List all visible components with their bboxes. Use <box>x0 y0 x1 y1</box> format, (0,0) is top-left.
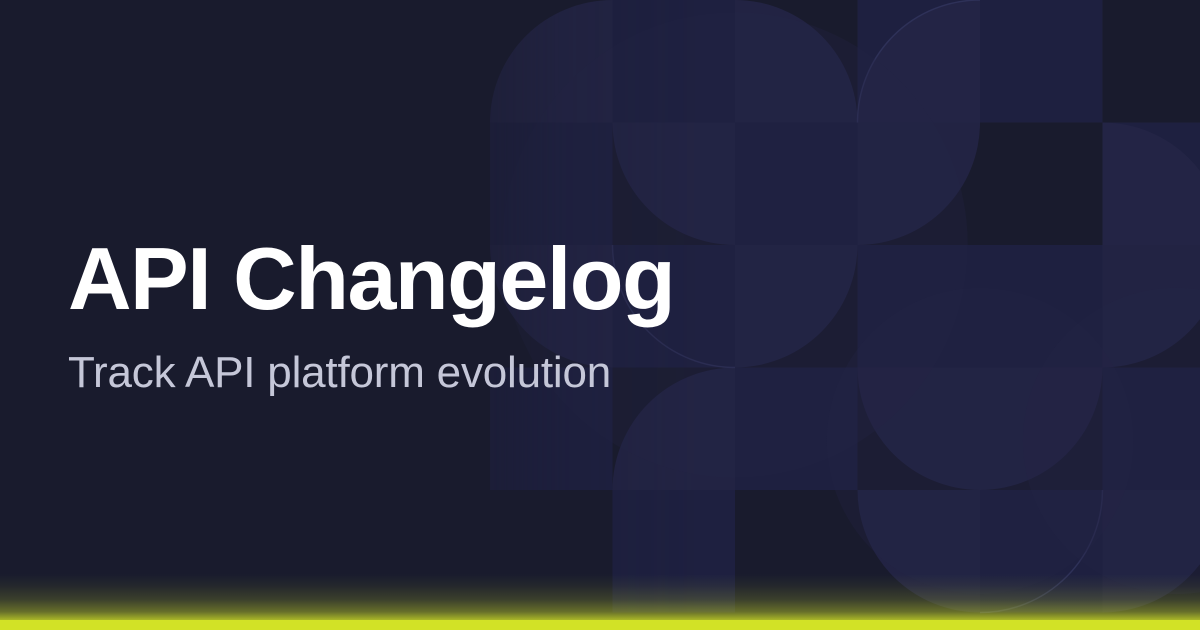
pattern-arc <box>858 0 981 123</box>
pattern-quarter-circle <box>980 368 1103 491</box>
pattern-quarter-circle <box>858 0 981 123</box>
pattern-soft-circle <box>827 288 1133 594</box>
pattern-square <box>858 0 981 123</box>
pattern-square <box>735 123 858 246</box>
page-title: API Changelog <box>68 235 674 323</box>
pattern-square <box>1103 368 1200 491</box>
pattern-quarter-circle <box>858 123 981 246</box>
pattern-quarter-circle <box>1103 245 1200 368</box>
pattern-square <box>980 490 1103 613</box>
pattern-quarter-circle <box>735 0 858 123</box>
pattern-square <box>980 245 1103 368</box>
og-card: API Changelog Track API platform evoluti… <box>0 0 1200 630</box>
page-subtitle: Track API platform evolution <box>68 351 674 395</box>
pattern-quarter-circle <box>1103 490 1200 613</box>
pattern-square <box>735 368 858 491</box>
pattern-soft-circle <box>1023 288 1200 594</box>
pattern-arc <box>980 490 1103 613</box>
pattern-square <box>858 245 981 368</box>
pattern-quarter-circle <box>1103 123 1200 246</box>
pattern-square <box>1103 123 1200 246</box>
pattern-quarter-circle <box>858 490 981 613</box>
accent-bar <box>0 620 1200 630</box>
pattern-square <box>980 0 1103 123</box>
hero-text-block: API Changelog Track API platform evoluti… <box>68 0 674 630</box>
pattern-quarter-circle <box>735 245 858 368</box>
pattern-quarter-circle <box>858 368 981 491</box>
